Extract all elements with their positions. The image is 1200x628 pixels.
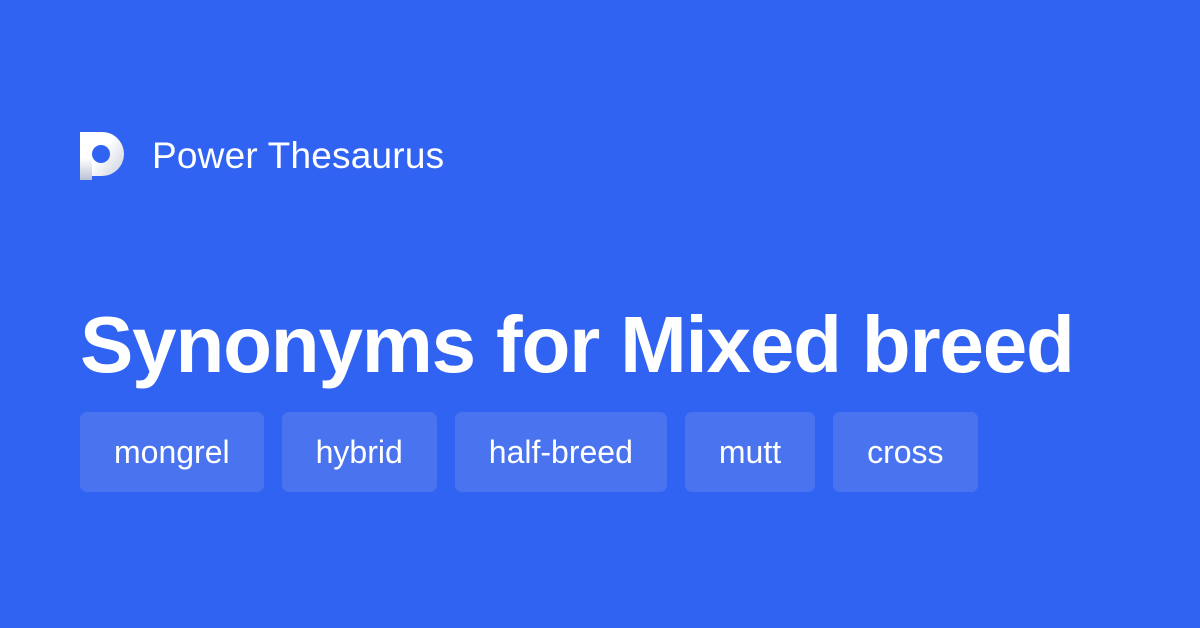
page-title: Synonyms for Mixed breed: [80, 301, 1130, 389]
synonym-chip[interactable]: mongrel: [80, 412, 264, 492]
synonym-chip[interactable]: cross: [833, 412, 977, 492]
synonym-chip[interactable]: mutt: [685, 412, 815, 492]
synonym-chip[interactable]: half-breed: [455, 412, 667, 492]
synonym-chip[interactable]: hybrid: [282, 412, 437, 492]
brand-name-text: power thesaurus: [152, 132, 444, 180]
brand-logo[interactable]: power thesaurus: [80, 130, 444, 182]
synonym-chip-list: mongrel hybrid half-breed mutt cross: [80, 412, 1140, 492]
thesaurus-share-card: power thesaurus Synonyms for Mixed breed…: [0, 0, 1200, 628]
power-thesaurus-b-logo-icon: [80, 132, 124, 180]
